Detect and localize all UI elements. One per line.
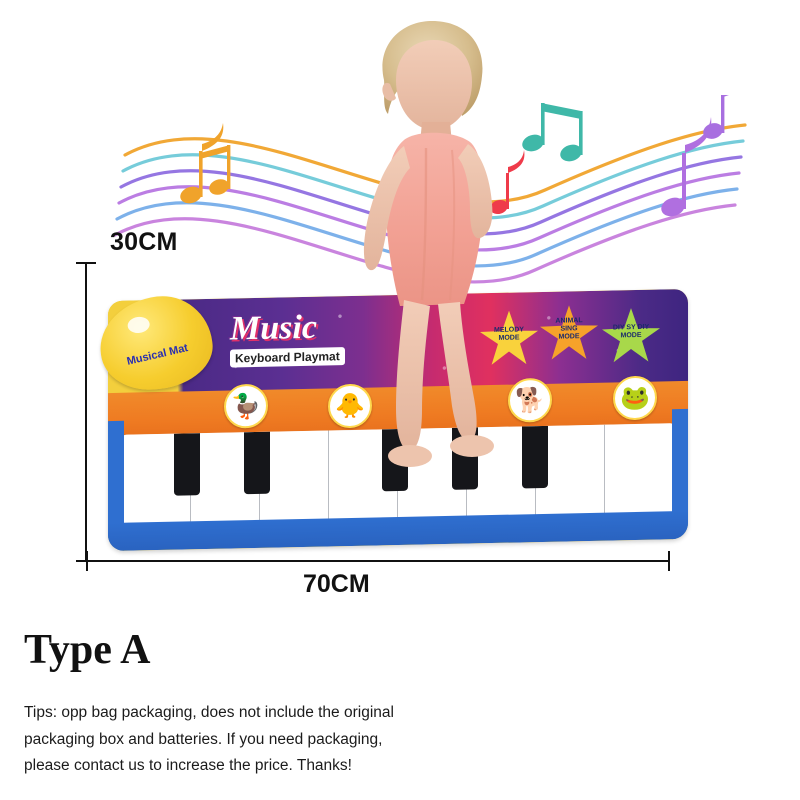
type-title: Type A bbox=[24, 626, 150, 674]
speaker-highlight bbox=[127, 316, 151, 335]
tips-line-2: packaging box and batteries. If you need… bbox=[24, 727, 544, 754]
tips-line-1: Tips: opp bag packaging, does not includ… bbox=[24, 700, 544, 727]
speaker-label: Musical Mat bbox=[109, 338, 205, 371]
height-dimension-label: 30CM bbox=[110, 228, 178, 257]
note-purple-small bbox=[701, 95, 741, 141]
black-key[interactable] bbox=[244, 432, 270, 495]
mode-button-animal-sing-label: ANIMAL SING MODE bbox=[540, 317, 598, 342]
product-image: 30CM 70CM bbox=[0, 0, 800, 800]
mode-button-diy-label: DIY SY DIY MODE bbox=[602, 324, 660, 341]
mat-logo-subtitle: Keyboard Playmat bbox=[230, 347, 345, 367]
note-orange bbox=[178, 123, 231, 206]
black-key[interactable] bbox=[174, 433, 200, 496]
width-dimension-label: 70CM bbox=[303, 570, 370, 599]
child-photo bbox=[330, 18, 530, 538]
tips-text: Tips: opp bag packaging, does not includ… bbox=[24, 700, 544, 780]
white-key[interactable] bbox=[605, 423, 674, 524]
width-dimension-line bbox=[86, 560, 670, 562]
frog-icon: 🐸 bbox=[615, 378, 655, 419]
animal-button-duck[interactable]: 🦆 bbox=[224, 384, 268, 429]
tips-line-3: please contact us to increase the price.… bbox=[24, 753, 544, 780]
mode-button-animal-sing[interactable]: ANIMAL SING MODE bbox=[540, 305, 598, 362]
mode-button-diy[interactable]: DIY SY DIY MODE bbox=[602, 308, 660, 365]
white-key[interactable] bbox=[260, 430, 329, 531]
height-dimension-line bbox=[85, 262, 87, 562]
duck-icon: 🦆 bbox=[226, 386, 266, 427]
animal-button-frog[interactable]: 🐸 bbox=[613, 376, 657, 421]
